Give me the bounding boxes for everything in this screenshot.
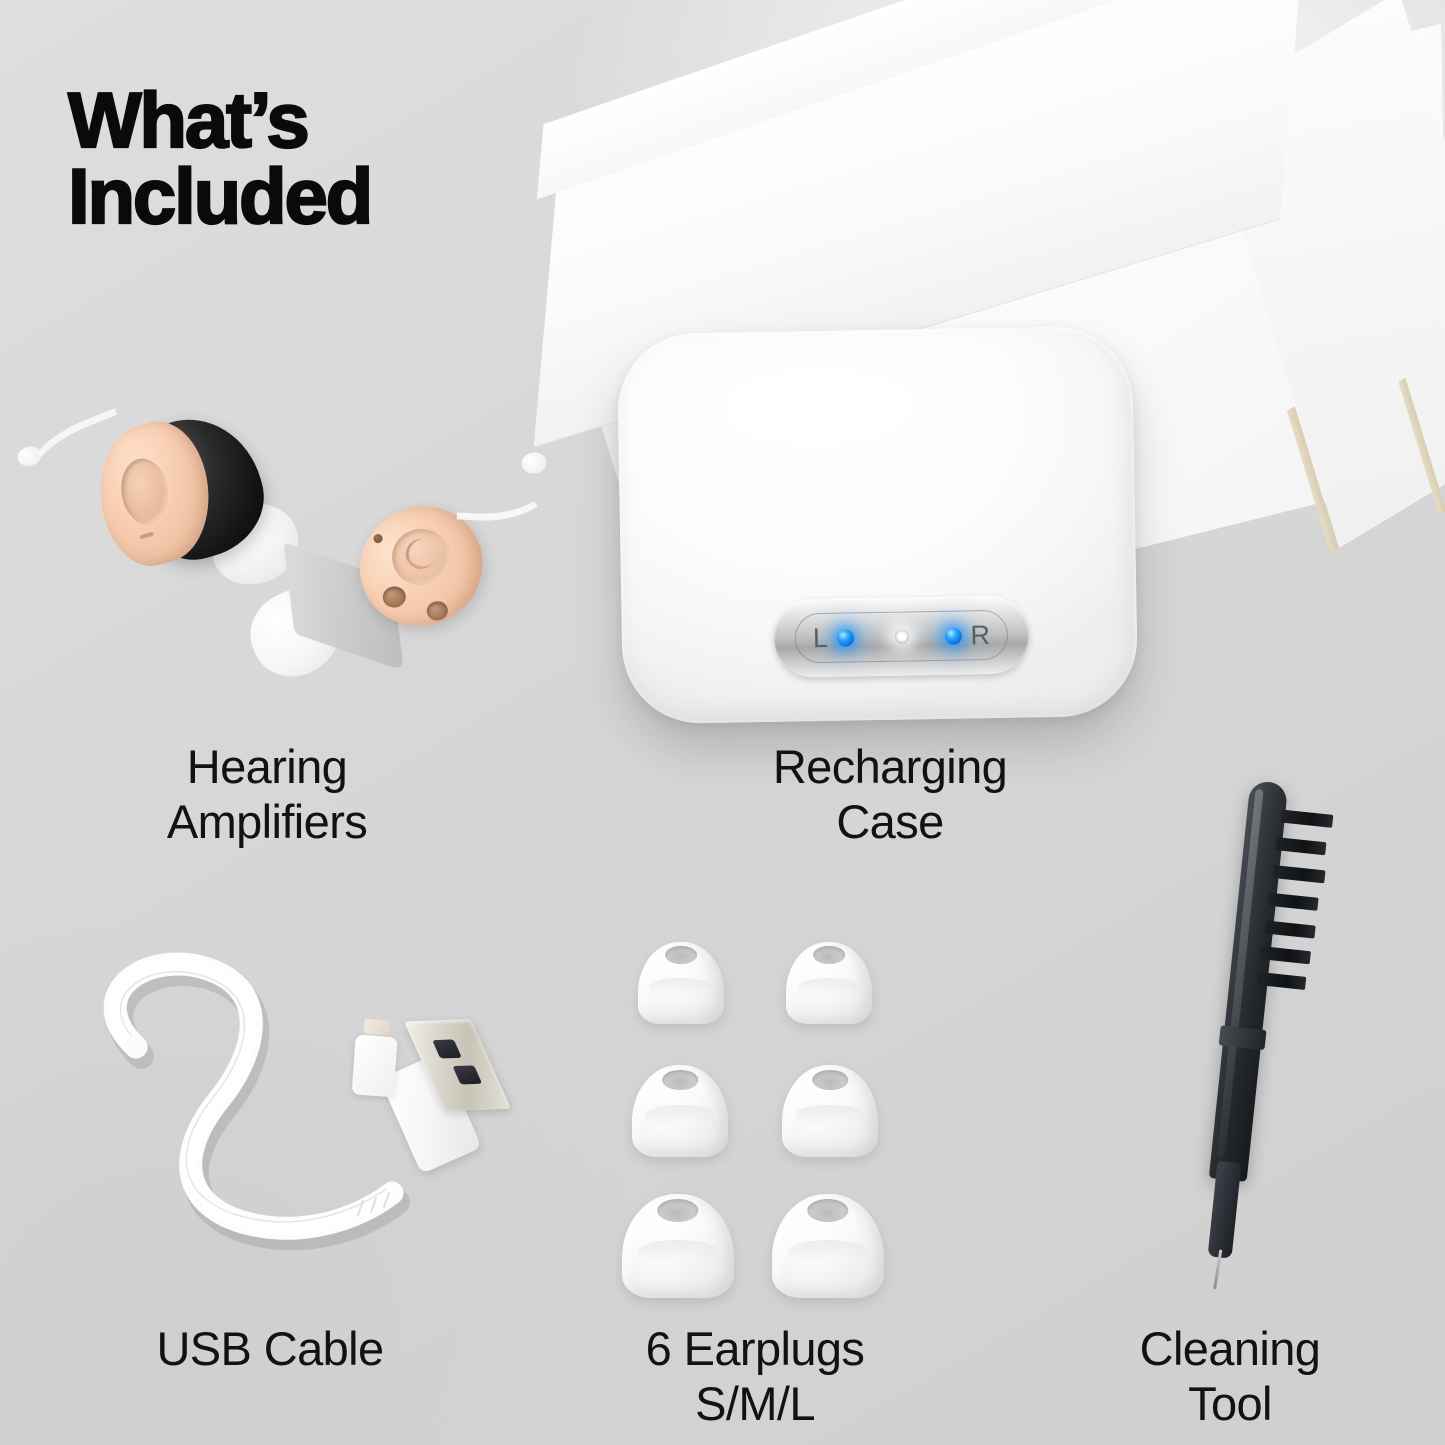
earplug-waist bbox=[638, 1240, 719, 1263]
led-right-group: R bbox=[944, 622, 990, 650]
usb-cable-image bbox=[40, 935, 540, 1280]
page-title: What’s Included bbox=[68, 82, 371, 235]
caption-recharging-case: Recharging Case bbox=[690, 740, 1090, 849]
led-indicator-inner: L R bbox=[795, 610, 1009, 664]
led-label-left: L bbox=[813, 624, 829, 651]
earplugs-image bbox=[600, 930, 900, 1290]
led-dot-right bbox=[944, 627, 961, 644]
caption-earplugs: 6 Earplugs S/M/L bbox=[545, 1322, 965, 1431]
led-dot-center bbox=[894, 629, 908, 643]
recharging-case-image: L R bbox=[617, 326, 1139, 725]
earplug-bore bbox=[812, 1070, 848, 1090]
hearing-amplifiers-image bbox=[60, 385, 530, 695]
earplug-small bbox=[786, 942, 872, 1024]
hearing-amplifier-unit-grey bbox=[273, 475, 557, 720]
earplug-waist bbox=[650, 978, 712, 996]
removal-thread bbox=[457, 461, 558, 524]
caption-hearing-amplifiers: Hearing Amplifiers bbox=[62, 740, 472, 849]
brush-bristle-row bbox=[1280, 810, 1333, 828]
micro-usb-connector bbox=[352, 1034, 398, 1097]
caption-cleaning-tool: Cleaning Tool bbox=[1045, 1322, 1415, 1431]
page-title-line-2: Included bbox=[68, 158, 371, 234]
earplug-waist bbox=[788, 1240, 869, 1263]
earplug-bore bbox=[665, 946, 697, 964]
earplug-medium bbox=[782, 1065, 878, 1157]
earplug-large bbox=[772, 1194, 884, 1298]
earplug-bore bbox=[807, 1199, 848, 1222]
earplug-bore bbox=[662, 1070, 698, 1090]
earplug-waist bbox=[798, 978, 860, 996]
micro-usb-tip bbox=[364, 1019, 391, 1036]
case-highlight bbox=[658, 351, 1041, 498]
earplug-large bbox=[622, 1194, 734, 1298]
led-dot-left bbox=[837, 629, 854, 646]
led-label-right: R bbox=[970, 622, 990, 649]
caption-usb-cable: USB Cable bbox=[60, 1322, 480, 1377]
earplug-medium bbox=[632, 1065, 728, 1157]
earplug-waist bbox=[795, 1105, 864, 1125]
brush-bristle-row bbox=[1275, 837, 1326, 855]
cleaning-tool-image bbox=[1140, 775, 1390, 1295]
earplug-waist bbox=[645, 1105, 714, 1125]
page-title-line-1: What’s bbox=[68, 82, 371, 158]
earplug-bore bbox=[813, 946, 845, 964]
led-indicator-strip: L R bbox=[773, 595, 1029, 677]
led-left-group: L bbox=[813, 624, 854, 652]
brush-bristle-row bbox=[1272, 865, 1325, 883]
product-contents-infographic: What’s Included Hearing Amplifiers bbox=[0, 0, 1445, 1445]
earplug-bore bbox=[657, 1199, 698, 1222]
earplug-small bbox=[638, 942, 724, 1024]
cleaning-tool-body bbox=[1114, 763, 1417, 1306]
